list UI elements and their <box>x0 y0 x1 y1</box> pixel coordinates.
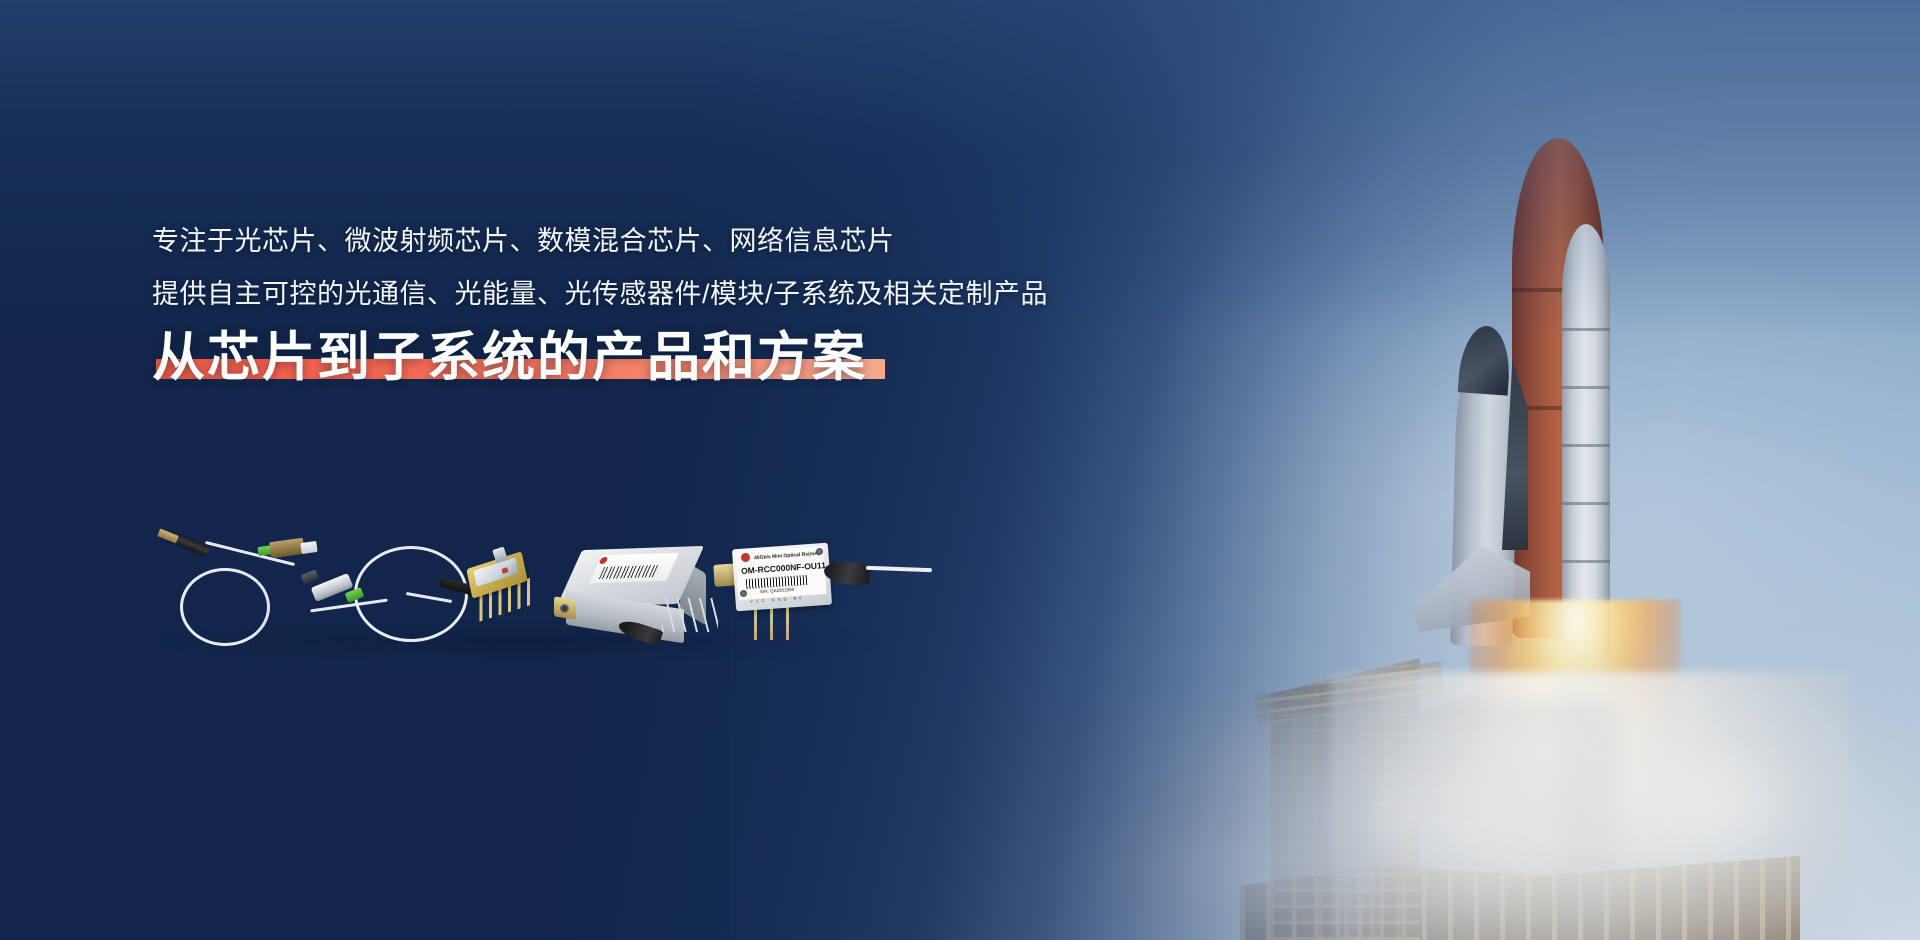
fiber-coil <box>180 568 270 646</box>
subhead-line-1: 专注于光芯片、微波射频芯片、数模混合芯片、网络信息芯片 <box>152 228 1152 255</box>
sma-center-pin <box>560 604 569 613</box>
hero-banner: 专注于光芯片、微波射频芯片、数模混合芯片、网络信息芯片 提供自主可控的光通信、光… <box>0 0 1920 940</box>
headline-wrapper: 从芯片到子系统的产品和方案 <box>152 328 867 387</box>
product-mini-optical-receiver: 40Gb/s Mini Optical Rx(mA) OM-RCC000NF-O… <box>720 540 930 650</box>
output-fiber <box>866 566 932 572</box>
barcode <box>599 565 661 579</box>
background-photo-layer <box>0 0 1920 940</box>
page-title: 从芯片到子系统的产品和方案 <box>152 328 867 387</box>
module-pin-row <box>662 598 718 632</box>
sc-connector-body <box>269 538 305 559</box>
product-photo-strip: 40Gb/s Mini Optical Rx(mA) OM-RCC000NF-O… <box>150 520 910 650</box>
subhead-line-2: 提供自主可控的光通信、光能量、光传感器件/模块/子系统及相关定制产品 <box>152 281 1152 308</box>
product-fiber-pigtail-assembly <box>158 530 318 650</box>
housing-screw <box>740 590 747 597</box>
housing-screw <box>816 548 823 555</box>
banner-copy-block: 专注于光芯片、微波射频芯片、数模混合芯片、网络信息芯片 提供自主可控的光通信、光… <box>152 228 1152 387</box>
product-rf-optical-module-box <box>550 546 730 654</box>
